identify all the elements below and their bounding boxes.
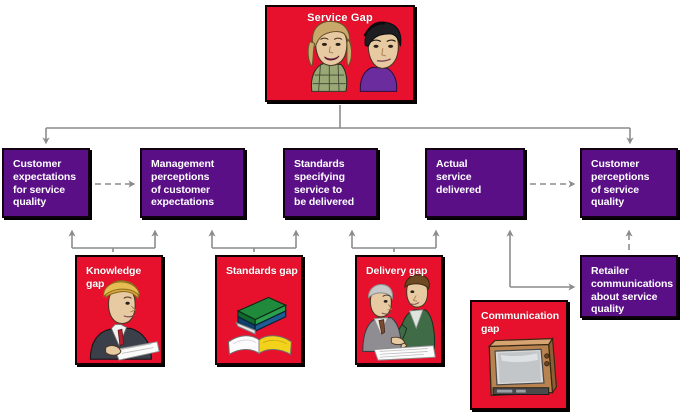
box-line: perceptions (591, 171, 676, 184)
gap-line: Communication (481, 310, 559, 322)
box-actual-service-delivered: Actual service delivered (425, 148, 525, 218)
box-customer-expectations: Customer expectations for service qualit… (2, 148, 90, 218)
gap-label: Standards gap (226, 265, 298, 278)
connector-standards-gap (212, 232, 296, 252)
gap-label: Delivery gap (366, 265, 427, 278)
box-line: about service (591, 291, 676, 304)
box-retailer-communications: Retailer communications about service qu… (580, 255, 678, 318)
gap-line: gap (279, 265, 297, 277)
box-line: Customer (591, 158, 676, 171)
box-customer-perceptions: Customer perceptions of service quality (580, 148, 678, 218)
connector-delivery-gap (352, 232, 436, 252)
box-line: expectations (13, 171, 88, 184)
gap-box-communication: Communication gap (470, 300, 568, 410)
connector-knowledge-gap (72, 232, 155, 252)
gap-line: Standards (226, 265, 276, 277)
gap-label: Knowledge gap (86, 265, 161, 291)
box-line: perceptions (151, 171, 243, 184)
box-line: Actual (436, 158, 523, 171)
gap-line: Knowledge (86, 265, 141, 277)
box-line: Standards (294, 158, 376, 171)
box-line: expectations (151, 196, 243, 209)
box-line: communications (591, 278, 676, 291)
gap-line: gap (481, 323, 499, 335)
gap-line: gap (409, 265, 427, 277)
box-line: delivered (436, 184, 523, 197)
box-line: for service (13, 184, 88, 197)
box-line: quality (591, 303, 676, 316)
box-line: service to (294, 184, 376, 197)
box-line: of customer (151, 184, 243, 197)
gap-box-knowledge: Knowledge gap (75, 255, 163, 365)
gap-box-standards: Standards gap (215, 255, 303, 365)
box-line: Customer (13, 158, 88, 171)
box-line: quality (13, 196, 88, 209)
gap-line: gap (86, 278, 104, 290)
box-line: be delivered (294, 196, 376, 209)
box-management-perceptions: Management perceptions of customer expec… (140, 148, 245, 218)
connector-actual-to-retailer (510, 232, 573, 287)
box-line: Retailer (591, 265, 676, 278)
connector-top-bus (46, 105, 630, 142)
box-line: Management (151, 158, 243, 171)
box-line: specifying (294, 171, 376, 184)
service-gap-title: Service Gap (267, 12, 413, 25)
box-line: of service (591, 184, 676, 197)
box-standards-specifying-service: Standards specifying service to be deliv… (283, 148, 378, 218)
gap-label: Communication gap (481, 310, 566, 336)
service-gap-diagram: Service Gap (0, 0, 680, 416)
box-line: service (436, 171, 523, 184)
gap-box-delivery: Delivery gap (355, 255, 443, 365)
gap-line: Delivery (366, 265, 406, 277)
service-gap-header-box: Service Gap (265, 5, 415, 102)
box-line: quality (591, 196, 676, 209)
